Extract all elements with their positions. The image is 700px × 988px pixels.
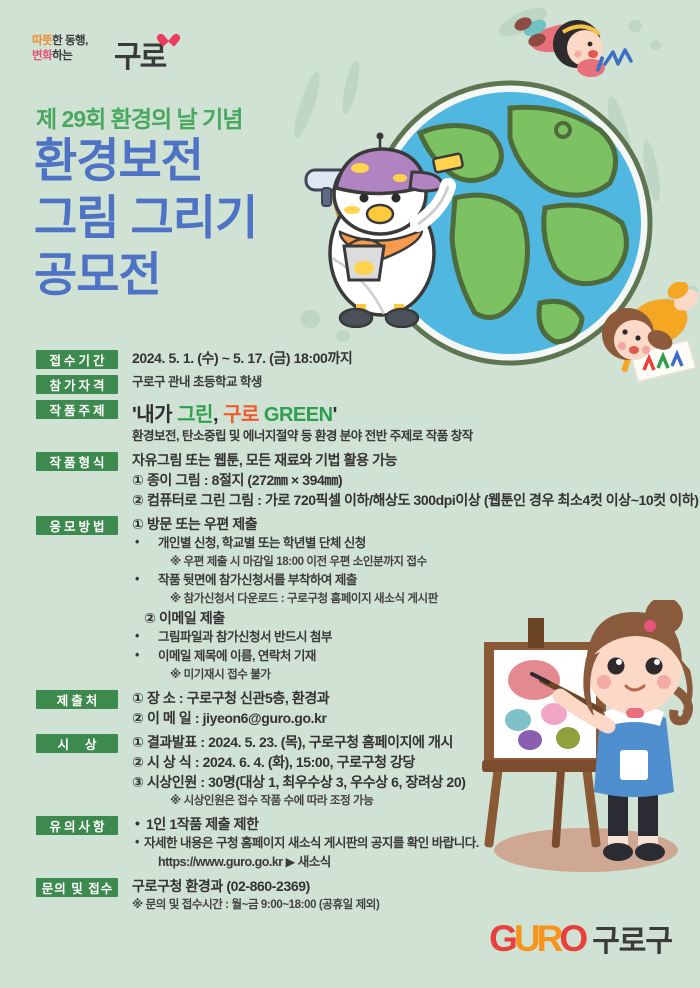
info-line: 2024. 5. 1. (수) ~ 5. 17. (금) 18:00까지: [132, 348, 676, 368]
brand-slogan-line1-rest: 한 동행,: [52, 35, 88, 47]
info-row: 접수기간2024. 5. 1. (수) ~ 5. 17. (금) 18:00까지: [36, 348, 676, 369]
section-body: ① 결과발표 : 2024. 5. 23. (목), 구로구청 홈페이지에 개시…: [118, 732, 676, 810]
info-line: ② 시 상 식 : 2024. 6. 4. (화), 15:00, 구로구청 강…: [132, 752, 676, 772]
theme-part-mid: ,: [213, 404, 223, 426]
duck-mascot-painter-illustration: [292, 128, 472, 328]
info-row: 참가자격구로구 관내 초등학교 학생: [36, 373, 676, 394]
section-tag: 작품주제: [36, 400, 118, 419]
theme-part-orange: 구로: [223, 404, 259, 426]
info-row: 제출처① 장 소 : 구로구청 신관5층, 환경과② 이 메 일 : jiyeo…: [36, 688, 676, 728]
info-line: ※ 시상인원은 접수 작품 수에 따라 조정 가능: [132, 792, 676, 810]
section-body: 구로구 관내 초등학교 학생: [118, 373, 676, 392]
info-line: 개인별 신청, 학교별 또는 학년별 단체 신청: [132, 534, 676, 553]
info-line: ※ 우편 제출 시 마감일 18:00 이전 우편 소인분까지 접수: [132, 553, 676, 571]
info-line: ※ 문의 및 접수시간 : 월~금 9:00~18:00 (공휴일 제외): [132, 896, 676, 914]
section-tag: 유의사항: [36, 816, 118, 835]
section-body: 1인 1작품 제출 제한자세한 내용은 구청 홈페이지 새소식 게시판의 공지를…: [118, 814, 676, 872]
section-tag: 문의 및 접수: [36, 878, 118, 897]
info-line: 자세한 내용은 구청 홈페이지 새소식 게시판의 공지를 확인 바랍니다.: [132, 834, 676, 853]
bg-stroke: [336, 330, 350, 342]
section-tag: 시상: [36, 734, 118, 753]
contest-theme: '내가 그린, 구로 GREEN': [132, 398, 676, 427]
info-section: 접수기간2024. 5. 1. (수) ~ 5. 17. (금) 18:00까지…: [36, 348, 676, 918]
info-line: ① 종이 그림 : 8절지 (272㎜ × 394㎜): [132, 470, 699, 490]
brand-slogan-line2-rest: 하는: [52, 50, 72, 62]
page-title: 환경보전 그림 그리기 공모전: [34, 132, 257, 303]
info-row: 시상① 결과발표 : 2024. 5. 23. (목), 구로구청 홈페이지에 …: [36, 732, 676, 810]
guro-footer-logo: GURO 구로구: [489, 916, 672, 960]
theme-part-prefix: '내가: [132, 404, 177, 426]
info-line: ② 이 메 일 : jiyeon6@guro.go.kr: [132, 708, 676, 728]
page-kicker: 제 29회 환경의 날 기념: [36, 100, 242, 134]
section-body: '내가 그린, 구로 GREEN'환경보전, 탄소중립 및 에너지절약 등 환경…: [118, 398, 676, 446]
poster-root: 따뜻한 동행, 변화하는 구로: [0, 0, 700, 988]
section-tag: 제출처: [36, 690, 118, 709]
section-tag: 참가자격: [36, 375, 118, 394]
info-line: ② 컴퓨터로 그린 그림 : 가로 720픽셀 이하/해상도 300dpi이상 …: [132, 490, 699, 510]
section-body: 자유그림 또는 웹툰, 모든 재료와 기법 활용 가능① 종이 그림 : 8절지…: [118, 450, 699, 510]
info-line: https://www.guro.go.kr ▶ 새소식: [132, 853, 676, 872]
section-tag: 작품형식: [36, 452, 118, 471]
info-line: 그림파일과 참가신청서 반드시 첨부: [132, 628, 676, 647]
info-line: ※ 미기재시 접수 불가: [132, 666, 676, 684]
brand-slogan-line1-highlight: 따뜻: [32, 35, 52, 47]
info-line: 구로구 관내 초등학교 학생: [132, 373, 676, 392]
info-row: 작품형식자유그림 또는 웹툰, 모든 재료와 기법 활용 가능① 종이 그림 :…: [36, 450, 676, 510]
section-body: ① 방문 또는 우편 제출개인별 신청, 학교별 또는 학년별 단체 신청※ 우…: [118, 514, 676, 684]
theme-part-green2: GREEN: [259, 404, 333, 426]
logo-letter-g: G: [489, 918, 514, 959]
heart-icon: [162, 30, 177, 44]
section-body: 2024. 5. 1. (수) ~ 5. 17. (금) 18:00까지: [118, 348, 676, 368]
info-line: 작품 뒷면에 참가신청서를 부착하여 제출: [132, 571, 676, 590]
info-line: 구로구청 환경과 (02-860-2369): [132, 876, 676, 896]
info-line: 1인 1작품 제출 제한: [132, 814, 676, 834]
page-title-line-1: 환경보전: [34, 132, 257, 189]
info-line: ② 이메일 제출: [132, 608, 676, 628]
info-line: ① 결과발표 : 2024. 5. 23. (목), 구로구청 홈페이지에 개시: [132, 732, 676, 752]
section-tag: 접수기간: [36, 350, 118, 369]
info-line: ※ 참가신청서 다운로드 : 구로구청 홈페이지 새소식 게시판: [132, 590, 676, 608]
guro-brand-logo: 따뜻한 동행, 변화하는 구로: [32, 30, 192, 82]
theme-part-green1: 그린: [177, 404, 213, 426]
page-title-line-3: 공모전: [34, 246, 257, 303]
info-row: 응모방법① 방문 또는 우편 제출개인별 신청, 학교별 또는 학년별 단체 신…: [36, 514, 676, 684]
brand-slogan: 따뜻한 동행, 변화하는: [32, 34, 88, 64]
logo-korean-name: 구로구: [592, 916, 672, 960]
girl-drawing-top-right-illustration: [505, 2, 655, 87]
info-line: 이메일 제목에 이름, 연락처 기재: [132, 647, 676, 666]
info-row: 문의 및 접수구로구청 환경과 (02-860-2369)※ 문의 및 접수시간…: [36, 876, 676, 914]
section-body: 구로구청 환경과 (02-860-2369)※ 문의 및 접수시간 : 월~금 …: [118, 876, 676, 914]
info-line: 환경보전, 탄소중립 및 에너지절약 등 환경 분야 전반 주제로 작품 창작: [132, 427, 676, 446]
info-line: ① 장 소 : 구로구청 신관5층, 환경과: [132, 688, 676, 708]
info-row: 유의사항1인 1작품 제출 제한자세한 내용은 구청 홈페이지 새소식 게시판의…: [36, 814, 676, 872]
info-line: ① 방문 또는 우편 제출: [132, 514, 676, 534]
theme-part-suffix: ': [333, 404, 337, 426]
info-row: 작품주제'내가 그린, 구로 GREEN'환경보전, 탄소중립 및 에너지절약 …: [36, 398, 676, 446]
page-title-line-2: 그림 그리기: [34, 189, 257, 246]
info-line: 자유그림 또는 웹툰, 모든 재료와 기법 활용 가능: [132, 450, 699, 470]
logo-letter-o: O: [559, 918, 584, 959]
info-line: ③ 시상인원 : 30명(대상 1, 최우수상 3, 우수상 6, 장려상 20…: [132, 772, 676, 792]
logo-letter-u: U: [514, 918, 537, 959]
section-body: ① 장 소 : 구로구청 신관5층, 환경과② 이 메 일 : jiyeon6@…: [118, 688, 676, 728]
logo-letter-r: R: [537, 918, 560, 959]
brand-slogan-line2-highlight: 변화: [32, 50, 52, 62]
guro-wordmark-icon: GURO: [489, 920, 584, 957]
section-tag: 응모방법: [36, 516, 118, 535]
